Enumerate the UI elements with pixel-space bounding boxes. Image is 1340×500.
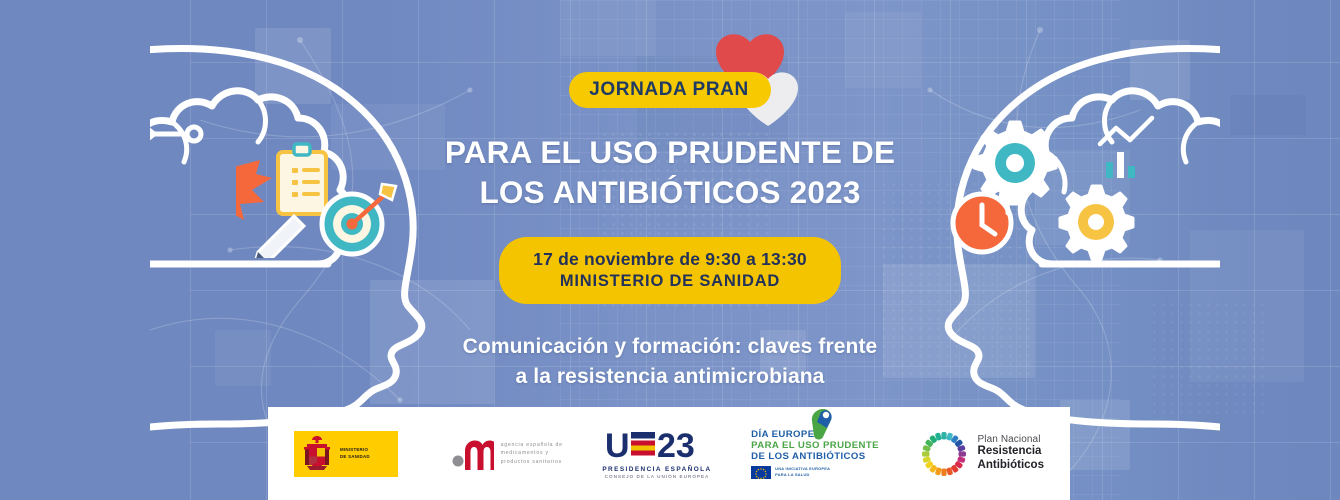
gear-teal-icon (974, 122, 1056, 204)
subtitle-line-2: a la resistencia antimicrobiana (516, 365, 825, 388)
ue23-wordmark-icon: U 23 (605, 428, 709, 464)
jornada-badge: JORNADA PRAN (569, 72, 771, 108)
key-icon (150, 126, 201, 142)
eu-endorsement-text: UNA INICIATIVA EUROPEA PARA LA SALUD (775, 466, 830, 478)
poster-text-column: JORNADA PRAN PARA EL USO PRUDENTE DE LOS… (400, 0, 940, 400)
dia-line-2: PARA EL USO PRUDENTE (751, 440, 879, 451)
pnra-logo-text: Plan Nacional Resistencia Antibióticos (978, 434, 1044, 472)
pnra-line-3: Antibióticos (978, 459, 1044, 473)
ue23-subtitle-2: CONSEJO DE LA UNIÓN EUROPEA (605, 474, 710, 479)
pnra-line-2: Resistencia (978, 445, 1044, 459)
clock-orange-icon (953, 188, 1011, 252)
logo-ue23-presidencia: U 23 PRESIDENCIA ESPAÑOLA CONSEJO DE LA … (602, 428, 711, 479)
event-date: 17 de noviembre de 9:30 a 13:30 (533, 248, 807, 271)
poster-subtitle: Comunicación y formación: claves frente … (463, 332, 878, 392)
subtitle-line-1: Comunicación y formación: claves frente (463, 335, 878, 358)
pnra-color-ring-icon (919, 429, 969, 479)
page-title: PARA EL USO PRUDENTE DE LOS ANTIBIÓTICOS… (445, 132, 895, 213)
clipboard-checklist-icon (278, 144, 326, 214)
pnra-line-1: Plan Nacional (978, 434, 1044, 445)
svg-text:U: U (605, 428, 630, 464)
ue23-subtitle-1: PRESIDENCIA ESPAÑOLA (602, 466, 711, 473)
pencil-icon (254, 216, 304, 258)
svg-text:23: 23 (657, 428, 695, 464)
title-line-2: LOS ANTIBIÓTICOS 2023 (479, 174, 860, 210)
logo-ministerio-de-sanidad: MINISTERIO DE SANIDAD (294, 431, 398, 477)
aemps-line-1: agencia española de (501, 441, 563, 450)
target-arrow-icon (322, 184, 396, 254)
right-brain-icon-group (940, 110, 1160, 270)
date-venue-badge: 17 de noviembre de 9:30 a 13:30 MINISTER… (499, 237, 841, 305)
dia-line-3: DE LOS ANTIBIÓTICOS (751, 451, 865, 462)
event-venue: MINISTERIO DE SANIDAD (533, 271, 807, 293)
jornada-badge-wrap: JORNADA PRAN (569, 72, 771, 108)
eu-flag-icon (751, 466, 771, 479)
speech-burst-icon (236, 160, 272, 220)
aemps-m-mark-icon (452, 437, 494, 471)
logo-dia-europeo-antibioticos: DÍA EUROPEO PARA EL USO PRUDENTE DE LOS … (751, 429, 879, 479)
eu-line-2: PARA LA SALUD (775, 472, 830, 478)
logo-plan-nacional-resistencia-antibioticos: Plan Nacional Resistencia Antibióticos (919, 429, 1044, 479)
logo-agencia-espanola-medicamentos: agencia española de medicamentos y produ… (452, 437, 563, 471)
title-line-1: PARA EL USO PRUDENTE DE (445, 134, 895, 170)
aemps-logo-text: agencia española de medicamentos y produ… (501, 441, 563, 467)
spain-flag-in-e (631, 432, 655, 456)
footer-logo-bar: MINISTERIO DE SANIDAD agencia española d… (268, 407, 1070, 500)
poster-banner: JORNADA PRAN PARA EL USO PRUDENTE DE LOS… (0, 0, 1340, 500)
dia-eu-endorsement: UNA INICIATIVA EUROPEA PARA LA SALUD (751, 466, 830, 479)
gear-yellow-icon (1060, 186, 1133, 259)
aemps-line-3: productos sanitarios (501, 458, 563, 467)
spain-coat-of-arms-icon (301, 435, 333, 473)
sanidad-logo-text: MINISTERIO DE SANIDAD (340, 447, 370, 460)
aemps-line-2: medicamentos y (501, 449, 563, 458)
dia-europeo-pill-person-icon (803, 407, 837, 441)
sanidad-yellow-box: MINISTERIO DE SANIDAD (294, 431, 398, 477)
sanidad-line-1: MINISTERIO (340, 447, 370, 454)
bar-chart-trend-icon (1100, 118, 1152, 178)
sanidad-line-2: DE SANIDAD (340, 454, 370, 461)
